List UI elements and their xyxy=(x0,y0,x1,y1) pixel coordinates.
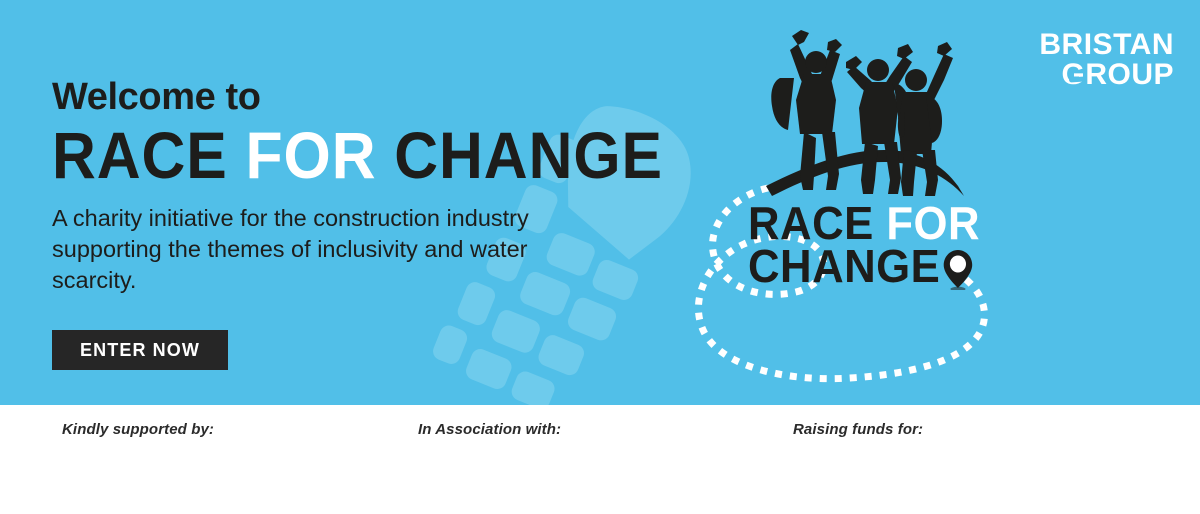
hero-section: Welcome to RACE FOR CHANGE A charity ini… xyxy=(0,0,1200,405)
footer-column-supported: Kindly supported by: xyxy=(0,405,400,514)
headline-race: RACE xyxy=(52,118,246,192)
race-for-change-wordmark: RACE FOR CHANGE xyxy=(748,202,967,290)
hiker-left-silhouette xyxy=(771,30,842,190)
label-kindly-supported-by: Kindly supported by: xyxy=(62,421,214,438)
bristan-logo-line2: GROUP xyxy=(1061,58,1174,91)
hero-eyebrow: Welcome to xyxy=(52,78,652,118)
label-in-association-with: In Association with: xyxy=(418,421,561,438)
race-for-change-banner: Welcome to RACE FOR CHANGE A charity ini… xyxy=(0,0,1200,514)
enter-now-button[interactable]: ENTER NOW xyxy=(52,330,228,370)
wordmark-line2: CHANGE xyxy=(748,245,967,290)
hero-subcopy: A charity initiative for the constructio… xyxy=(52,203,572,297)
hero-copy: Welcome to RACE FOR CHANGE A charity ini… xyxy=(52,78,652,296)
wordmark-change: CHANGE xyxy=(748,240,940,292)
footer-column-funds: Raising funds for: xyxy=(760,405,1200,514)
location-pin-icon xyxy=(942,248,974,290)
bristan-logo-line2-wrap: GROUP xyxy=(1061,60,1174,90)
bristan-logo-line1: BRISTAN xyxy=(1039,30,1174,60)
hero-headline: RACE FOR CHANGE xyxy=(52,124,604,187)
wordmark-line1: RACE FOR xyxy=(748,202,967,245)
footer-section: Kindly supported by: installer SHOW FIRS… xyxy=(0,405,1200,514)
headline-for: FOR xyxy=(246,118,395,192)
footer-column-association: In Association with: xyxy=(400,405,760,514)
headline-change: CHANGE xyxy=(394,118,663,192)
label-raising-funds-for: Raising funds for: xyxy=(793,421,923,438)
bristan-group-logo: BRISTAN GROUP xyxy=(1039,30,1174,90)
